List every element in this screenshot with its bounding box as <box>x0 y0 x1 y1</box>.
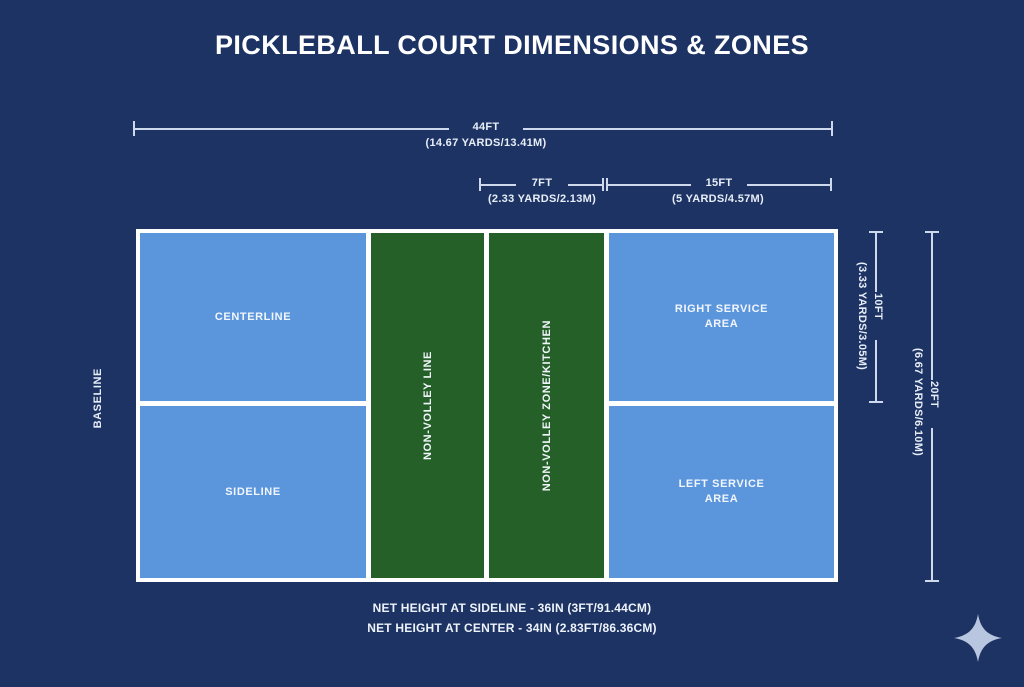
net-height-sideline: NET HEIGHT AT SIDELINE - 36IN (3FT/91.44… <box>0 598 1024 618</box>
overall-width-label: 20FT <box>928 381 940 408</box>
overall-width-tick-top <box>925 231 939 233</box>
non-volley-depth-alt-label: (2.33 YARDS/2.13M) <box>442 193 642 205</box>
overall-length-label: 44FT <box>449 121 523 133</box>
overall-width-tick-bottom <box>925 580 939 582</box>
court-zone-right-service-area: RIGHT SERVICE AREA <box>609 233 834 401</box>
court-zone-sideline-label: SIDELINE <box>225 486 281 498</box>
overall-width-alt-label: (6.67 YARDS/6.10M) <box>912 348 924 456</box>
page-title: PICKLEBALL COURT DIMENSIONS & ZONES <box>0 30 1024 61</box>
net-height-notes: NET HEIGHT AT SIDELINE - 36IN (3FT/91.44… <box>0 598 1024 638</box>
court-zone-left-service-area: LEFT SERVICE AREA <box>609 406 834 578</box>
court-zone-non-volley-line: NON-VOLLEY LINE <box>371 233 484 578</box>
non-volley-depth-tick-left <box>479 178 481 191</box>
non-volley-depth-tick-right <box>602 178 604 191</box>
overall-length-tick-right <box>831 121 833 136</box>
sparkle-icon <box>950 610 1006 666</box>
service-width-tick-top <box>869 231 883 233</box>
court-inner: CENTERLINE SIDELINE NON-VOLLEY LINE NON-… <box>140 233 834 578</box>
service-depth-label: 15FT <box>691 177 747 189</box>
non-volley-depth-label: 7FT <box>516 177 568 189</box>
overall-length-tick-left <box>133 121 135 136</box>
court-zone-non-volley-kitchen: NON-VOLLEY ZONE/KITCHEN <box>489 233 604 578</box>
court-zone-centerline-label: CENTERLINE <box>215 311 291 323</box>
diagram-canvas: PICKLEBALL COURT DIMENSIONS & ZONES 44FT… <box>0 0 1024 687</box>
net-height-center: NET HEIGHT AT CENTER - 34IN (2.83FT/86.3… <box>0 618 1024 638</box>
right-service-area-line2: AREA <box>705 317 739 332</box>
overall-length-alt-label: (14.67 YARDS/13.41M) <box>386 137 586 149</box>
service-width-alt-label: (3.33 YARDS/3.05M) <box>856 262 868 370</box>
service-width-tick-bottom <box>869 401 883 403</box>
service-width-label: 10FT <box>872 293 884 320</box>
left-service-area-line2: AREA <box>705 492 739 507</box>
left-service-area-line1: LEFT SERVICE <box>679 477 765 492</box>
service-depth-alt-label: (5 YARDS/4.57M) <box>618 193 818 205</box>
service-depth-tick-right <box>830 178 832 191</box>
right-service-area-line1: RIGHT SERVICE <box>675 302 768 317</box>
court-zone-non-volley-kitchen-label: NON-VOLLEY ZONE/KITCHEN <box>541 320 553 491</box>
pickleball-court: CENTERLINE SIDELINE NON-VOLLEY LINE NON-… <box>136 229 838 582</box>
court-zone-centerline: CENTERLINE <box>140 233 366 401</box>
court-zone-non-volley-line-label: NON-VOLLEY LINE <box>422 351 434 460</box>
service-depth-tick-left <box>606 178 608 191</box>
court-zone-sideline: SIDELINE <box>140 406 366 578</box>
baseline-side-label: BASELINE <box>92 368 104 428</box>
